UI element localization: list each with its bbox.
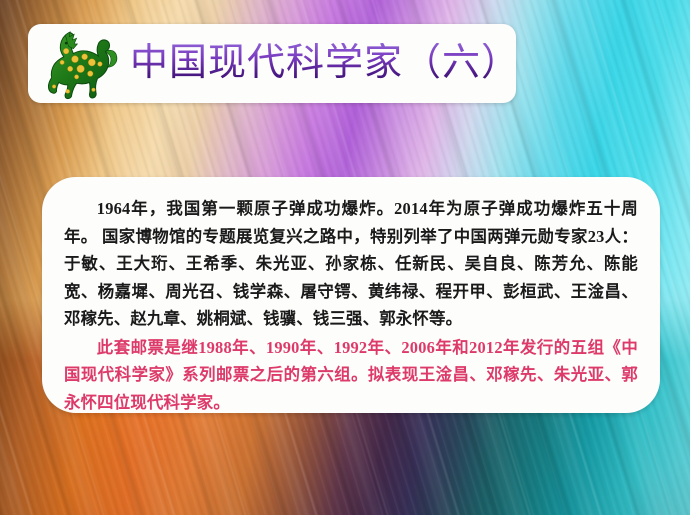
body-text-card: 1964年，我国第一颗原子弹成功爆炸。2014年为原子弹成功爆炸五十周年。 国家… (42, 177, 660, 413)
paragraph-stamp-note: 此套邮票是继1988年、1990年、1992年、2006年和2012年发行的五组… (64, 334, 638, 414)
title-card: 中国现代科学家（六） (28, 24, 516, 103)
paragraph-intro: 1964年，我国第一颗原子弹成功爆炸。2014年为原子弹成功爆炸五十周年。 国家… (64, 195, 638, 333)
presentation-slide: 中国现代科学家（六） 1964年，我国第一颗原子弹成功爆炸。2014年为原子弹成… (0, 0, 690, 515)
green-horse-icon (36, 27, 122, 101)
slide-title: 中国现代科学家（六） (130, 43, 520, 85)
